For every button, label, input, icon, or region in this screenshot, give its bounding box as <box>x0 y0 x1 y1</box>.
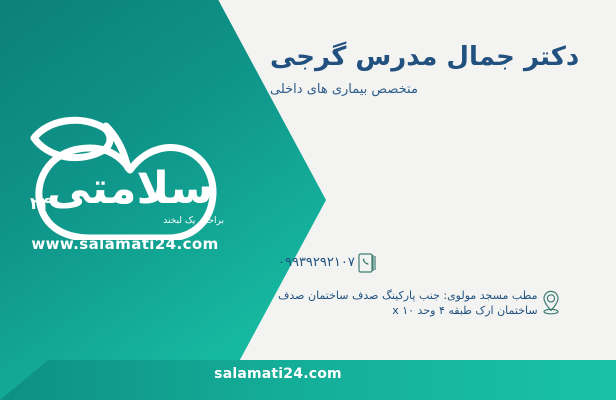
business-card: سلامتی ۲۴ براحتی یک لبخند www.salamati24… <box>0 0 616 400</box>
address-row[interactable]: مطب مسجد مولوی: جنب پارکینگ صدف ساختمان … <box>270 288 600 318</box>
address-text: مطب مسجد مولوی: جنب پارکینگ صدف ساختمان … <box>270 288 538 318</box>
logo-wordmark: سلامتی <box>42 160 218 220</box>
doctor-specialty: متخصص بیماری های داخلی <box>270 82 600 97</box>
address-line-1: مطب مسجد مولوی: جنب پارکینگ صدف ساختمان … <box>278 289 538 302</box>
doctor-name: دکتر جمال مدرس گرجی <box>270 42 600 72</box>
address-line-2: ساختمان ارک طبقه ۴ وحد ۱۰ x <box>392 304 537 317</box>
map-pin-icon <box>538 288 564 318</box>
phone-book-icon <box>355 248 381 278</box>
phone-number: ۰۹۹۳۹۲۹۲۱۰۷ <box>270 255 355 271</box>
logo-url: www.salamati24.com <box>18 235 232 253</box>
phone-row[interactable]: ۰۹۹۳۹۲۹۲۱۰۷ <box>270 248 600 278</box>
logo-tagline: براحتی یک لبخند <box>163 216 224 226</box>
footer-bar: salamati24.com <box>0 360 616 400</box>
logo: سلامتی ۲۴ براحتی یک لبخند www.salamati24… <box>18 108 232 258</box>
logo-badge-24: ۲۴ <box>30 194 51 214</box>
card-content: دکتر جمال مدرس گرجی متخصص بیماری های داخ… <box>270 0 600 400</box>
footer-website[interactable]: salamati24.com <box>0 366 616 382</box>
